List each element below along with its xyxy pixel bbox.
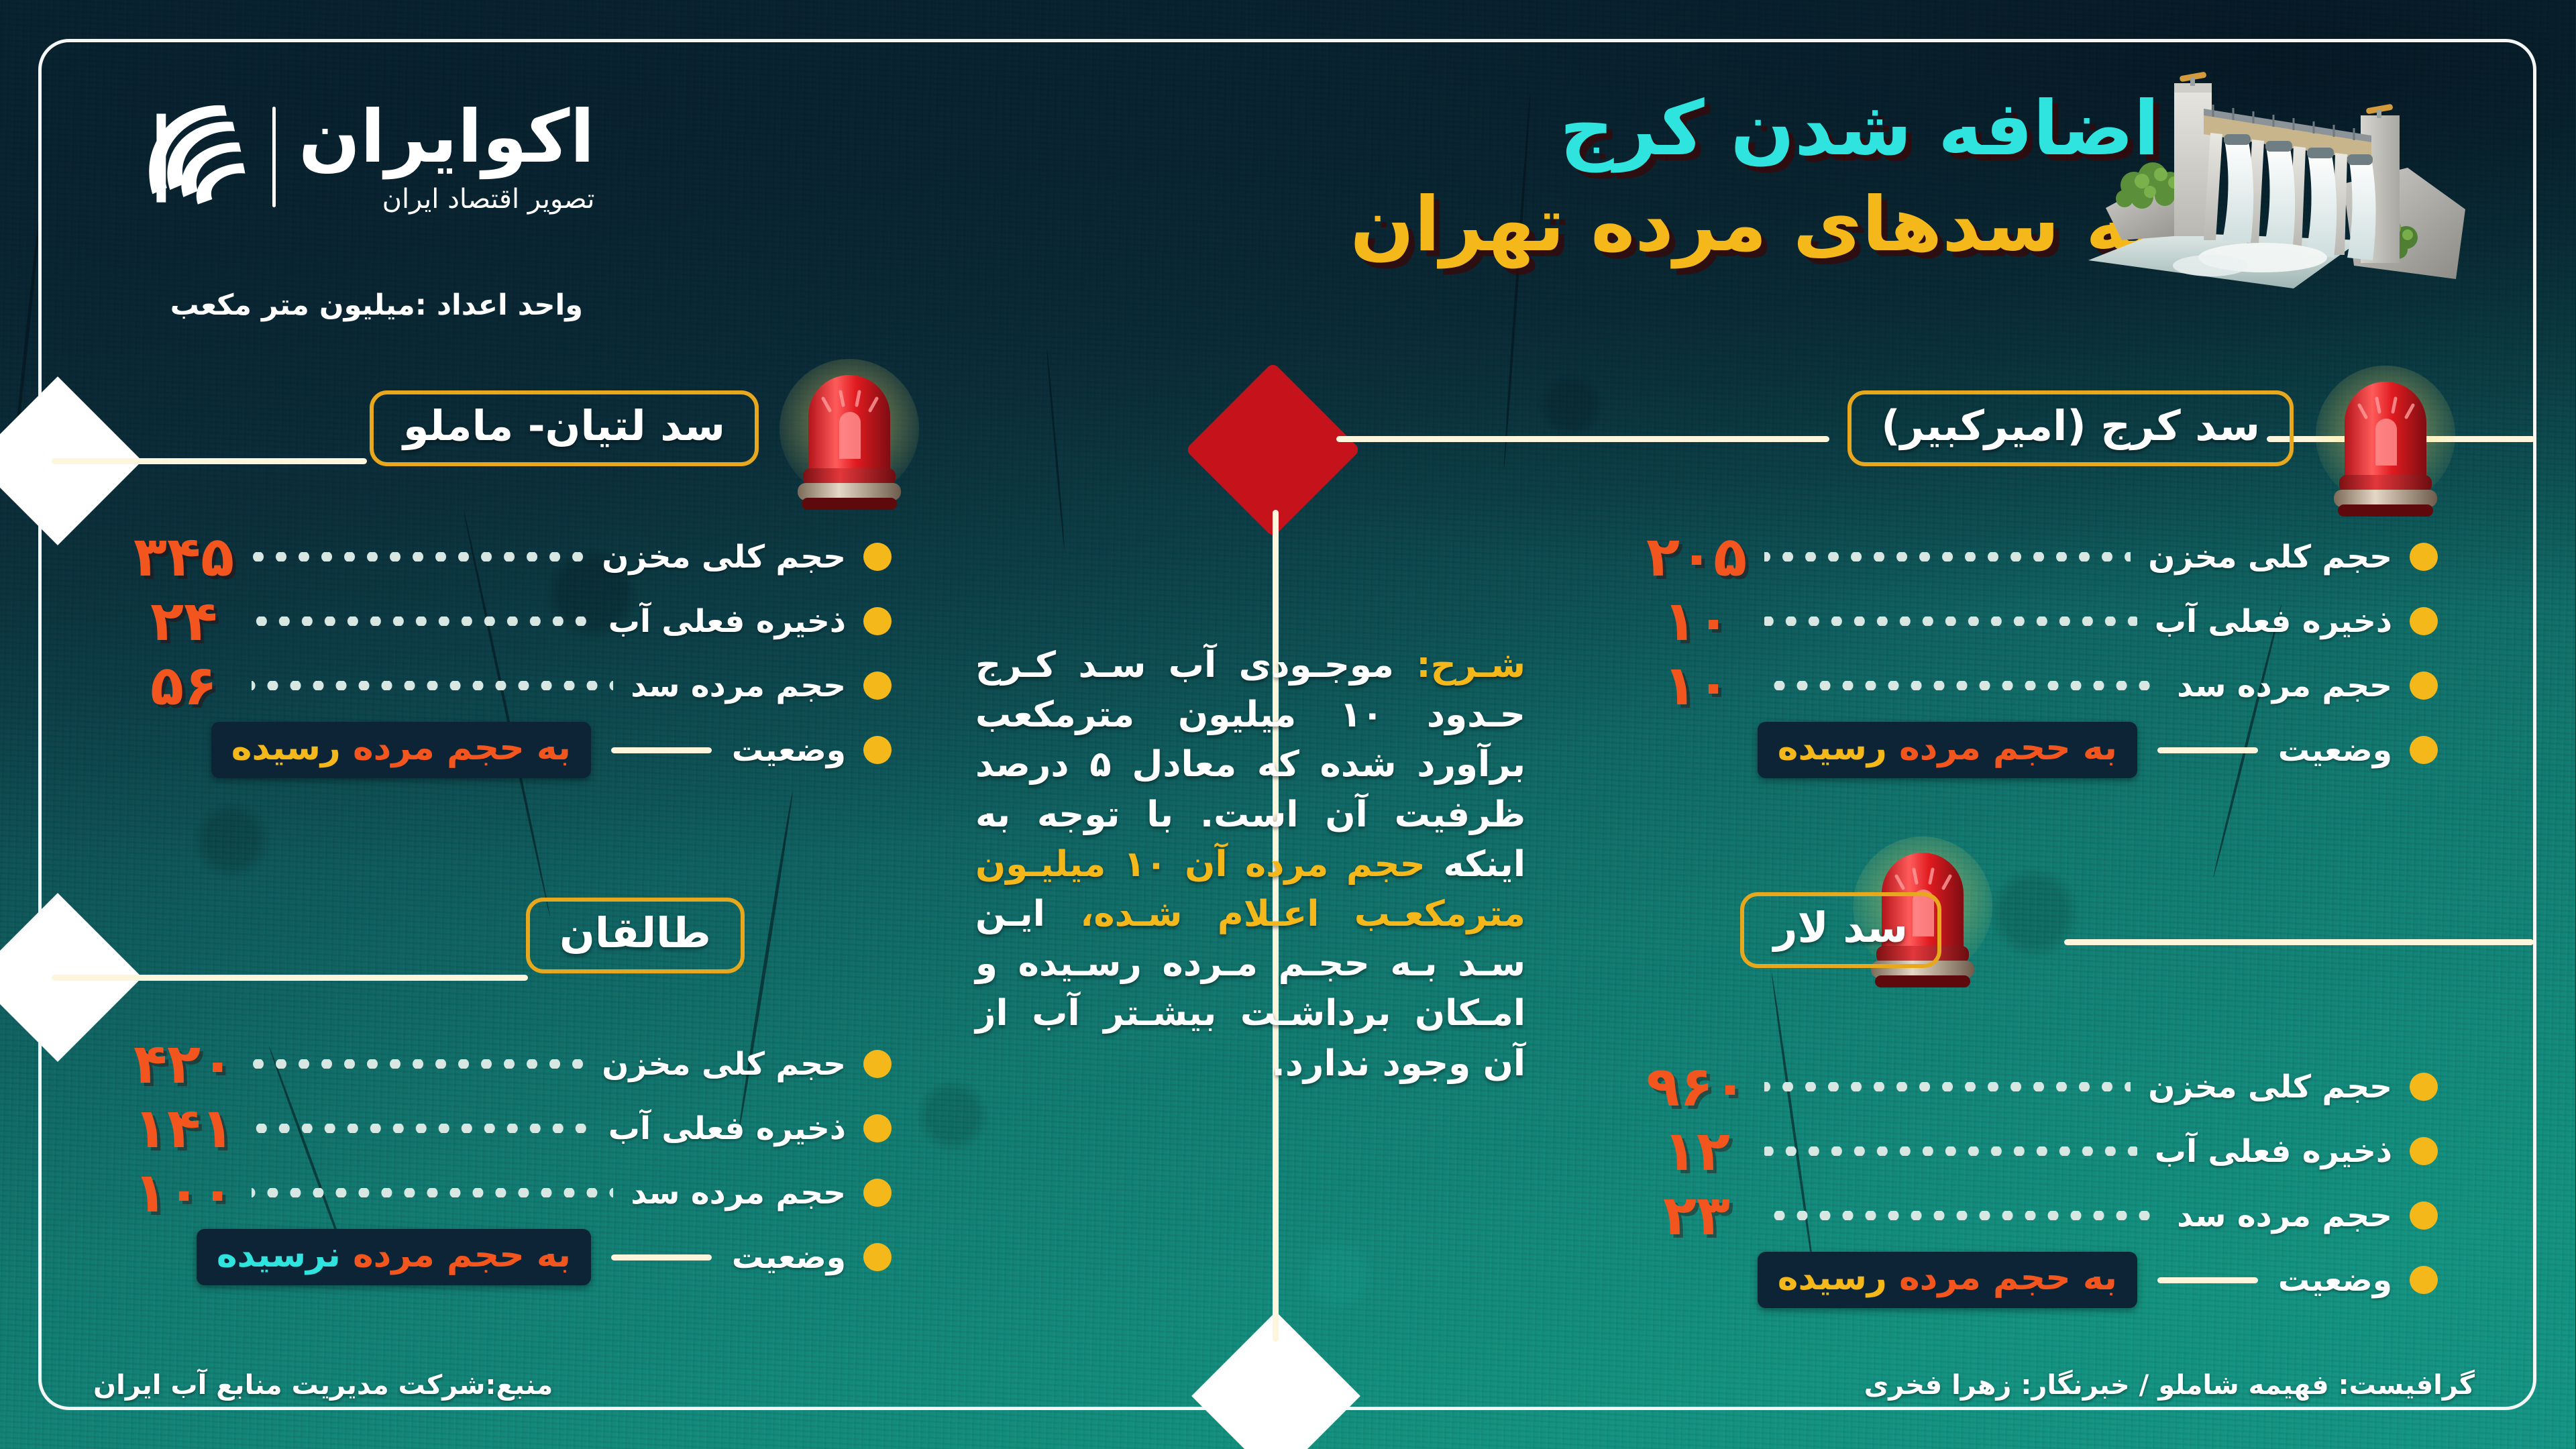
bullet-icon (2410, 1201, 2438, 1230)
dam-name-badge: سد لتیان- ماملو (370, 390, 759, 466)
status-leader (612, 1254, 712, 1260)
dam-rows: حجم کلی مخزن ۹۶۰ ذخیره فعلی آب ۱۲ حجم مر… (1647, 1055, 2438, 1312)
connector-left-bottom (52, 975, 529, 981)
description-label: شـرح: (1417, 645, 1526, 686)
dotted-leader (252, 1188, 614, 1197)
dam-illustration-icon (2073, 39, 2489, 307)
dam-name-label: سد لار (1774, 903, 1909, 952)
bullet-icon (864, 1114, 892, 1142)
value-dead: ۱۰ (1647, 654, 1748, 718)
row-label-status: وضعیت (2279, 1262, 2393, 1299)
row-label-total: حجم کلی مخزن (602, 539, 847, 576)
table-row: حجم کلی مخزن ۳۴۵ (134, 525, 892, 589)
siren-icon (2314, 365, 2459, 519)
bullet-icon (864, 736, 892, 764)
table-row: حجم کلی مخزن ۲۰۵ (1647, 525, 2438, 589)
status-leader (612, 747, 712, 753)
bullet-icon (864, 1179, 892, 1207)
dam-rows: حجم کلی مخزن ۳۴۵ ذخیره فعلی آب ۲۴ حجم مر… (134, 525, 892, 782)
bullet-icon (2410, 607, 2438, 635)
row-label-current: ذخیره فعلی آب (2155, 603, 2393, 640)
dotted-leader (252, 681, 614, 690)
table-row-status: وضعیت به حجم مرده رسیده (1647, 1248, 2438, 1312)
value-dead: ۲۳ (1647, 1184, 1748, 1248)
row-label-status: وضعیت (733, 732, 847, 769)
table-row: حجم مرده سد ۱۰۰ (134, 1161, 892, 1225)
table-row-status: وضعیت به حجم مرده رسیده (1647, 718, 2438, 782)
status-badge: به حجم مرده نرسیده (197, 1229, 592, 1285)
status-part-1: به حجم مرده (1900, 728, 2118, 768)
status-part-1: به حجم مرده (1900, 1258, 2118, 1298)
source-note: منبع:شرکت مدیریت منابع آب ایران (94, 1370, 553, 1401)
bullet-icon (2410, 736, 2438, 764)
credits-note: گرافیست: فهیمه شاملو / خبرنگار: زهرا فخر… (1865, 1370, 2475, 1401)
row-label-total: حجم کلی مخزن (2149, 539, 2393, 576)
dotted-leader (252, 1124, 592, 1133)
table-row: ذخیره فعلی آب ۱۰ (1647, 589, 2438, 653)
bullet-icon (2410, 1073, 2438, 1101)
bullet-icon (2410, 1266, 2438, 1294)
dotted-leader (1765, 1146, 2138, 1156)
row-label-current: ذخیره فعلی آب (609, 1110, 847, 1147)
row-label-dead: حجم مرده سد (2178, 1197, 2393, 1234)
row-label-current: ذخیره فعلی آب (2155, 1133, 2393, 1170)
title-line-2: به سدهای مرده تهران (1351, 183, 2160, 267)
dam-name-label: طالقان (560, 908, 712, 957)
row-label-dead: حجم مرده سد (631, 1175, 847, 1212)
page-title: اضافه شدن کرج به سدهای مرده تهران (1351, 87, 2160, 268)
table-row-status: وضعیت به حجم مرده رسیده (134, 718, 892, 782)
dotted-leader (1765, 681, 2160, 690)
ecoiran-mark-icon (126, 99, 250, 215)
bullet-icon (864, 607, 892, 635)
status-part-2: نرسیده (217, 1235, 341, 1275)
status-badge: به حجم مرده رسیده (1758, 722, 2138, 778)
dotted-leader (252, 616, 592, 626)
bullet-icon (2410, 672, 2438, 700)
bullet-icon (2410, 1137, 2438, 1165)
row-label-dead: حجم مرده سد (631, 667, 847, 704)
table-row: ذخیره فعلی آب ۱۴۱ (134, 1096, 892, 1161)
brand-logo: اکوایران تصویر اقتصاد ایران (126, 99, 596, 215)
dam-name-badge: طالقان (527, 898, 745, 973)
table-row: ذخیره فعلی آب ۱۲ (1647, 1119, 2438, 1183)
row-label-total: حجم کلی مخزن (602, 1046, 847, 1083)
value-total: ۳۴۵ (134, 525, 235, 589)
table-row: حجم مرده سد ۱۰ (1647, 653, 2438, 718)
status-part-2: رسیده (1778, 1258, 1888, 1298)
dam-rows: حجم کلی مخزن ۴۲۰ ذخیره فعلی آب ۱۴۱ حجم م… (134, 1032, 892, 1289)
table-row: حجم کلی مخزن ۴۲۰ (134, 1032, 892, 1096)
status-leader (2158, 1277, 2259, 1283)
dam-rows: حجم کلی مخزن ۲۰۵ ذخیره فعلی آب ۱۰ حجم مر… (1647, 525, 2438, 782)
bullet-icon (864, 543, 892, 571)
status-badge: به حجم مرده رسیده (1758, 1252, 2138, 1308)
table-row: حجم کلی مخزن ۹۶۰ (1647, 1055, 2438, 1119)
brand-tagline: تصویر اقتصاد ایران (299, 184, 596, 215)
table-row: حجم مرده سد ۵۶ (134, 653, 892, 718)
dotted-leader (252, 1059, 585, 1069)
bullet-icon (864, 672, 892, 700)
value-current: ۱۰ (1647, 590, 1748, 653)
siren-icon (778, 358, 922, 513)
connector-right-lar (2065, 939, 2534, 945)
value-dead: ۵۶ (134, 654, 235, 718)
dam-name-badge: سد کرج (امیرکبیر) (1848, 390, 2294, 466)
bullet-icon (2410, 543, 2438, 571)
value-total: ۴۲۰ (134, 1032, 235, 1096)
connector-left-top (52, 458, 368, 464)
value-current: ۱۴۱ (134, 1097, 235, 1161)
row-label-status: وضعیت (733, 1239, 847, 1276)
value-dead: ۱۰۰ (134, 1161, 235, 1225)
value-total: ۹۶۰ (1647, 1055, 1748, 1119)
status-part-1: به حجم مرده (354, 728, 572, 768)
dotted-leader (252, 552, 585, 561)
value-current: ۱۲ (1647, 1120, 1748, 1183)
value-current: ۲۴ (134, 590, 235, 653)
status-part-1: به حجم مرده (354, 1235, 572, 1275)
logo-divider (273, 107, 276, 207)
value-total: ۲۰۵ (1647, 525, 1748, 589)
bullet-icon (864, 1243, 892, 1271)
dam-name-label: سد لتیان- ماملو (404, 401, 726, 450)
connector-center-right (1337, 436, 1830, 442)
dam-name-badge: سد لار (1741, 892, 1942, 968)
table-row-status: وضعیت به حجم مرده نرسیده (134, 1225, 892, 1289)
dotted-leader (1765, 616, 2138, 626)
row-label-status: وضعیت (2279, 732, 2393, 769)
dam-name-label: سد کرج (امیرکبیر) (1882, 401, 2261, 450)
status-leader (2158, 747, 2259, 753)
status-badge: به حجم مرده رسیده (212, 722, 592, 778)
table-row: حجم مرده سد ۲۳ (1647, 1183, 2438, 1248)
dotted-leader (1765, 1211, 2160, 1220)
description-paragraph: شـرح: موجـودی آب سـد کـرج حـدود ۱۰ میلیو… (976, 641, 1526, 1089)
dotted-leader (1765, 1082, 2131, 1091)
title-line-1: اضافه شدن کرج (1351, 87, 2160, 171)
table-row: ذخیره فعلی آب ۲۴ (134, 589, 892, 653)
status-part-2: رسیده (232, 728, 341, 768)
status-part-2: رسیده (1778, 728, 1888, 768)
unit-note: واحد اعداد :میلیون متر مکعب (171, 288, 584, 322)
dotted-leader (1765, 552, 2131, 561)
row-label-current: ذخیره فعلی آب (609, 603, 847, 640)
row-label-total: حجم کلی مخزن (2149, 1069, 2393, 1106)
row-label-dead: حجم مرده سد (2178, 667, 2393, 704)
brand-name: اکوایران (299, 99, 596, 175)
bullet-icon (864, 1050, 892, 1078)
